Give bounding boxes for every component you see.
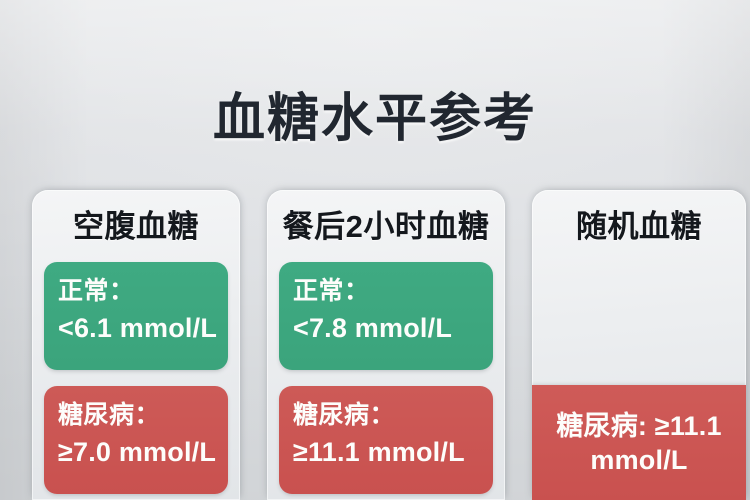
card-postprandial-glucose: 餐后2小时血糖 正常： <7.8 mmol/L 糖尿病： ≥11.1 mmol/… <box>267 190 505 500</box>
band-label: 糖尿病： <box>293 399 479 431</box>
band-normal: 正常： <7.8 mmol/L <box>279 262 493 370</box>
band-label: 糖尿病： <box>58 399 214 431</box>
band-normal: 正常： <6.1 mmol/L <box>44 262 228 370</box>
card-random-glucose: 随机血糖 糖尿病: ≥11.1 mmol/L <box>532 190 746 500</box>
card-fasting-glucose: 空腹血糖 正常： <6.1 mmol/L 糖尿病： ≥7.0 mmol/L <box>32 190 240 500</box>
band-diabetes: 糖尿病: ≥11.1 mmol/L <box>532 385 746 500</box>
card-title: 餐后2小时血糖 <box>279 208 493 246</box>
band-label: 正常： <box>293 275 479 307</box>
band-value: 糖尿病: ≥11.1 mmol/L <box>550 409 728 477</box>
band-value: <7.8 mmol/L <box>293 310 479 346</box>
infographic-root: 血糖水平参考 空腹血糖 正常： <6.1 mmol/L 糖尿病： ≥7.0 mm… <box>0 0 750 500</box>
card-title: 随机血糖 <box>532 208 746 246</box>
band-value: <6.1 mmol/L <box>58 310 214 346</box>
band-value: ≥7.0 mmol/L <box>58 434 214 470</box>
page-title: 血糖水平参考 <box>0 89 750 149</box>
band-diabetes: 糖尿病： ≥11.1 mmol/L <box>279 386 493 494</box>
card-title: 空腹血糖 <box>44 208 228 246</box>
band-diabetes: 糖尿病： ≥7.0 mmol/L <box>44 386 228 494</box>
band-value: ≥11.1 mmol/L <box>293 434 479 470</box>
card-row: 空腹血糖 正常： <6.1 mmol/L 糖尿病： ≥7.0 mmol/L 餐后… <box>0 190 750 500</box>
band-label: 正常： <box>58 275 214 307</box>
